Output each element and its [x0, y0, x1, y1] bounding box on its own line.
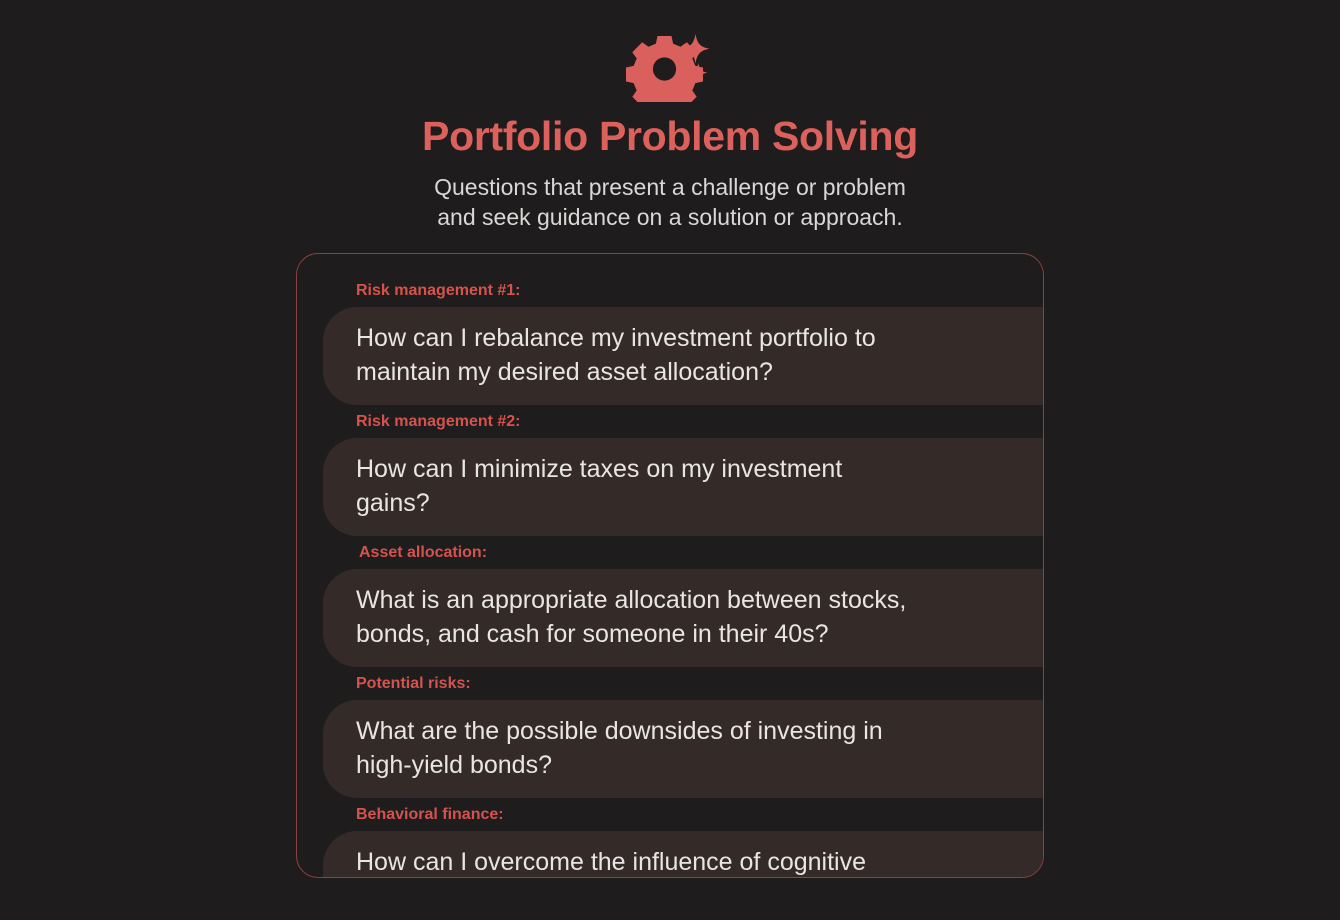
question-category-label: Risk management #2: [323, 411, 1019, 433]
list-item: Behavioral finance: How can I overcome t… [323, 804, 1019, 878]
questions-list: Risk management #1: How can I rebalance … [323, 280, 1019, 878]
question-text: How can I overcome the influence of cogn… [356, 845, 1044, 878]
list-item: Risk management #2: How can I minimize t… [323, 411, 1019, 536]
question-bubble[interactable]: How can I minimize taxes on my investmen… [323, 438, 1044, 536]
page-title: Portfolio Problem Solving [0, 116, 1340, 157]
page-subtitle: Questions that present a challenge or pr… [360, 172, 980, 232]
question-category-label: Risk management #1: [323, 280, 1019, 302]
page-header: Portfolio Problem Solving Questions that… [0, 0, 1340, 232]
question-bubble[interactable]: What are the possible downsides of inves… [323, 700, 1044, 798]
question-text: How can I minimize taxes on my investmen… [356, 452, 1044, 520]
question-category-label: Behavioral finance: [323, 804, 1019, 826]
questions-card: Risk management #1: How can I rebalance … [296, 253, 1044, 878]
list-item: Potential risks: What are the possible d… [323, 673, 1019, 798]
question-text: What is an appropriate allocation betwee… [356, 583, 1044, 651]
question-text: How can I rebalance my investment portfo… [356, 321, 1044, 389]
page-root: Portfolio Problem Solving Questions that… [0, 0, 1340, 920]
question-bubble[interactable]: How can I rebalance my investment portfo… [323, 307, 1044, 405]
question-category-label: Asset allocation: [323, 542, 1019, 564]
logo-wrap [0, 32, 1340, 102]
list-item: Asset allocation: What is an appropriate… [323, 542, 1019, 667]
question-bubble[interactable]: What is an appropriate allocation betwee… [323, 569, 1044, 667]
question-category-label: Potential risks: [323, 673, 1019, 695]
gear-sparkle-icon [624, 32, 716, 102]
question-text: What are the possible downsides of inves… [356, 714, 1044, 782]
list-item: Risk management #1: How can I rebalance … [323, 280, 1019, 405]
question-bubble[interactable]: How can I overcome the influence of cogn… [323, 831, 1044, 878]
